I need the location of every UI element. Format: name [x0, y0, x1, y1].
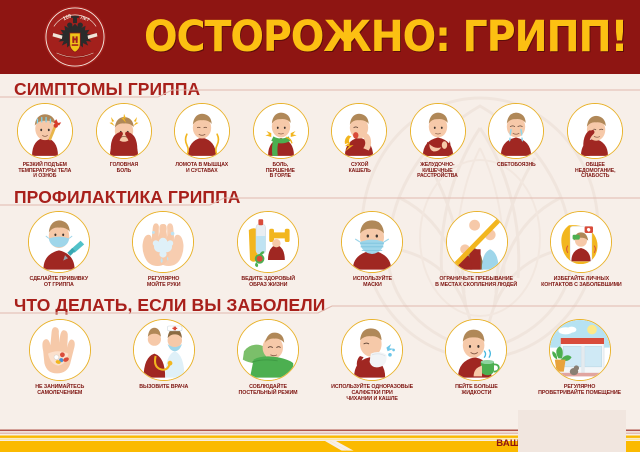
headache-icon	[96, 103, 152, 159]
section-symptoms: СИМПТОМЫ ГРИППА	[0, 74, 640, 180]
if-sick-label: ПЕЙТЕ БОЛЬШЕ ЖИДКОСТИ	[455, 385, 498, 397]
symptom-label: ГОЛОВНАЯ БОЛЬ	[109, 163, 137, 174]
if-sick-item[interactable]: СОБЛЮДАЙТЕ ПОСТЕЛЬНЫЙ РЕЖИМ	[218, 319, 318, 402]
healthy-lifestyle-icon	[237, 211, 299, 273]
prevention-row: СДЕЛАЙТЕ ПРИВИВКУ ОТ ГРИППА	[0, 208, 640, 289]
if-sick-label: ИСПОЛЬЗУЙТЕ ОДНОРАЗОВЫЕ САЛФЕТКИ ПРИ ЧИХ…	[331, 385, 413, 402]
decorative-panel	[518, 410, 626, 452]
symptom-item[interactable]: ЖЕЛУДОЧНО- КИШЕЧНЫЕ РАССТРОЙСТВА	[403, 103, 473, 180]
section-prevention-title: ПРОФИЛАКТИКА ГРИППА	[14, 188, 241, 206]
weakness-icon	[567, 103, 623, 159]
prevention-item[interactable]: СДЕЛАЙТЕ ПРИВИВКУ ОТ ГРИППА	[10, 211, 108, 289]
symptom-item[interactable]: ОБЩЕЕ НЕДОМОГАНИЕ, СЛАБОСТЬ	[560, 103, 630, 180]
if-sick-item[interactable]: НЕ ЗАНИМАЙТЕСЬ САМОЛЕЧЕНИЕМ	[10, 319, 110, 402]
prevention-item[interactable]: ВЕДИТЕ ЗДОРОВЫЙ ОБРАЗ ЖИЗНИ	[219, 211, 317, 289]
sore-throat-icon	[253, 103, 309, 159]
avoid-contact-icon	[550, 211, 612, 273]
muscle-joint-ache-icon	[174, 103, 230, 159]
section-if-sick-title: ЧТО ДЕЛАТЬ, ЕСЛИ ВЫ ЗАБОЛЕЛИ	[14, 296, 325, 314]
symptom-item[interactable]: ЛОМОТА В МЫШЦАХ И СУСТАВАХ	[167, 103, 237, 180]
symptom-label: ЛОМОТА В МЫШЦАХ И СУСТАВАХ	[176, 163, 229, 174]
disposable-tissue-icon	[341, 319, 403, 381]
if-sick-item[interactable]: ИСПОЛЬЗУЙТЕ ОДНОРАЗОВЫЕ САЛФЕТКИ ПРИ ЧИХ…	[322, 319, 422, 402]
symptom-item[interactable]: ГОЛОВНАЯ БОЛЬ	[89, 103, 159, 180]
face-mask-icon	[341, 211, 403, 273]
symptom-label: СВЕТОБОЯЗНЬ	[497, 163, 536, 169]
prevention-label: ВЕДИТЕ ЗДОРОВЫЙ ОБРАЗ ЖИЗНИ	[241, 277, 295, 289]
section-if-sick: ЧТО ДЕЛАТЬ, ЕСЛИ ВЫ ЗАБОЛЕЛИ	[0, 290, 640, 402]
drink-fluids-icon	[445, 319, 507, 381]
symptom-item[interactable]: СВЕТОБОЯЗНЬ	[481, 103, 551, 180]
prevention-item[interactable]: ИСПОЛЬЗУЙТЕ МАСКИ	[323, 211, 421, 289]
if-sick-label: РЕГУЛЯРНО ПРОВЕТРИВАЙТЕ ПОМЕЩЕНИЕ	[539, 385, 622, 397]
if-sick-label: НЕ ЗАНИМАЙТЕСЬ САМОЛЕЧЕНИЕМ	[36, 385, 85, 397]
symptom-label: ЖЕЛУДОЧНО- КИШЕЧНЫЕ РАССТРОЙСТВА	[417, 163, 458, 180]
if-sick-item[interactable]: ВЫЗОВИТЕ ВРАЧА	[114, 319, 214, 402]
prevention-label: ИЗБЕГАЙТЕ ЛИЧНЫХ КОНТАКТОВ С ЗАБОЛЕВШИМИ	[541, 277, 622, 289]
section-prevention-header: ПРОФИЛАКТИКА ГРИППА	[0, 182, 640, 208]
prevention-label: ИСПОЛЬЗУЙТЕ МАСКИ	[353, 277, 392, 289]
prevention-item[interactable]: ИЗБЕГАЙТЕ ЛИЧНЫХ КОНТАКТОВ С ЗАБОЛЕВШИМИ	[532, 211, 630, 289]
prevention-item[interactable]: ОГРАНИЧЬТЕ ПРЕБЫВАНИЕ В МЕСТАХ СКОПЛЕНИЯ…	[428, 211, 526, 289]
wash-hands-icon	[132, 211, 194, 273]
dry-cough-icon	[331, 103, 387, 159]
call-doctor-icon	[133, 319, 195, 381]
rospotrebnadzor-emblem-icon: 100 ЛЕТ	[42, 4, 108, 70]
prevention-label: РЕГУЛЯРНО МОЙТЕ РУКИ	[147, 277, 181, 289]
prevention-label: СДЕЛАЙТЕ ПРИВИВКУ ОТ ГРИППА	[30, 277, 88, 289]
symptom-item[interactable]: РЕЗКИЙ ПОДЪЕМ ТЕМПЕРАТУРЫ ТЕЛА И ОЗНОБ	[10, 103, 80, 180]
page-title: ОСТОРОЖНО: ГРИПП!	[144, 16, 627, 59]
symptom-label: СУХОЙ КАШЕЛЬ	[348, 163, 370, 174]
bed-rest-icon	[237, 319, 299, 381]
if-sick-row: НЕ ЗАНИМАЙТЕСЬ САМОЛЕЧЕНИЕМ	[0, 316, 640, 402]
photophobia-icon	[488, 103, 544, 159]
if-sick-label: ВЫЗОВИТЕ ВРАЧА	[140, 385, 189, 391]
symptom-item[interactable]: БОЛЬ, ПЕРШЕНИЕ В ГОРЛЕ	[246, 103, 316, 180]
if-sick-label: СОБЛЮДАЙТЕ ПОСТЕЛЬНЫЙ РЕЖИМ	[239, 385, 298, 397]
symptom-item[interactable]: СУХОЙ КАШЕЛЬ	[324, 103, 394, 180]
prevention-label: ОГРАНИЧЬТЕ ПРЕБЫВАНИЕ В МЕСТАХ СКОПЛЕНИЯ…	[436, 277, 518, 289]
symptoms-row: РЕЗКИЙ ПОДЪЕМ ТЕМПЕРАТУРЫ ТЕЛА И ОЗНОБ	[0, 100, 640, 180]
vaccination-icon	[28, 211, 90, 273]
if-sick-item[interactable]: РЕГУЛЯРНО ПРОВЕТРИВАЙТЕ ПОМЕЩЕНИЕ	[530, 319, 630, 402]
no-self-medication-icon	[29, 319, 91, 381]
fever-thermometer-icon	[17, 103, 73, 159]
prevention-item[interactable]: РЕГУЛЯРНО МОЙТЕ РУКИ	[114, 211, 212, 289]
section-symptoms-title: СИМПТОМЫ ГРИППА	[14, 80, 200, 98]
poster: 100 ЛЕТ	[0, 0, 640, 452]
section-prevention: ПРОФИЛАКТИКА ГРИППА	[0, 182, 640, 289]
if-sick-item[interactable]: ПЕЙТЕ БОЛЬШЕ ЖИДКОСТИ	[426, 319, 526, 402]
stomach-upset-icon	[410, 103, 466, 159]
symptom-label: РЕЗКИЙ ПОДЪЕМ ТЕМПЕРАТУРЫ ТЕЛА И ОЗНОБ	[19, 163, 72, 180]
section-if-sick-header: ЧТО ДЕЛАТЬ, ЕСЛИ ВЫ ЗАБОЛЕЛИ	[0, 290, 640, 316]
symptom-label: БОЛЬ, ПЕРШЕНИЕ В ГОРЛЕ	[266, 163, 295, 180]
ventilate-room-icon	[549, 319, 611, 381]
avoid-crowds-icon	[446, 211, 508, 273]
symptom-label: ОБЩЕЕ НЕДОМОГАНИЕ, СЛАБОСТЬ	[575, 163, 615, 180]
section-symptoms-header: СИМПТОМЫ ГРИППА	[0, 74, 640, 100]
poster-header: 100 ЛЕТ	[0, 0, 640, 74]
